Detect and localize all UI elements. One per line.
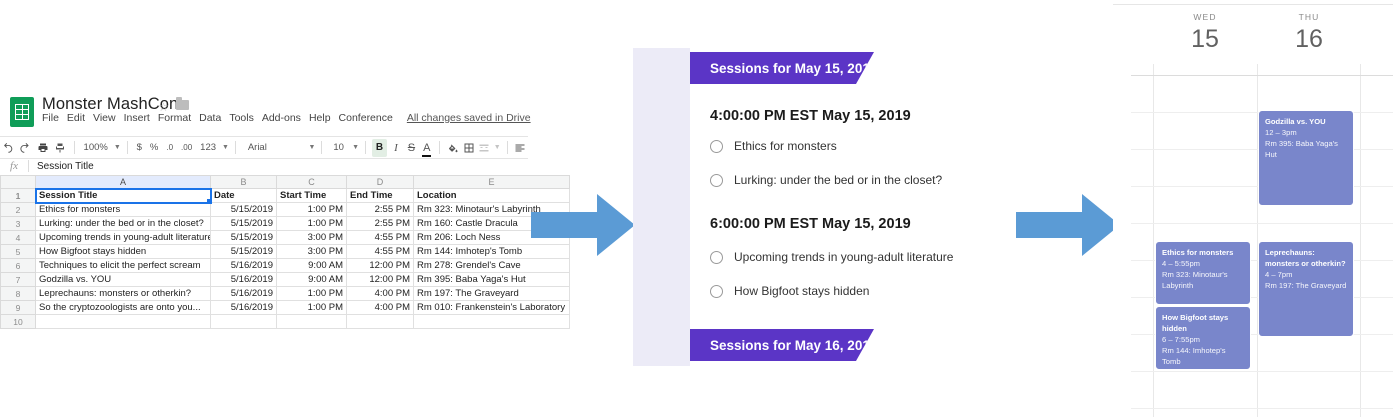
event-title: Leprechauns: monsters or otherkin? bbox=[1265, 247, 1347, 269]
formats-chevron-down-icon[interactable]: ▼ bbox=[222, 139, 229, 157]
time-slot-heading-2: 6:00:00 PM EST May 15, 2019 bbox=[710, 216, 911, 232]
row-header[interactable]: 10 bbox=[1, 315, 36, 329]
calendar-event[interactable]: Leprechauns: monsters or otherkin? 4 – 7… bbox=[1258, 241, 1354, 337]
menu-bar: FileEditViewInsertFormatDataToolsAdd-ons… bbox=[42, 112, 539, 124]
cell-end[interactable]: 4:00 PM bbox=[347, 287, 414, 301]
day-banner-label: Sessions for May 15, 2019 bbox=[710, 61, 877, 76]
radio-button-icon[interactable] bbox=[710, 140, 723, 153]
calendar-column-divider bbox=[1360, 64, 1361, 417]
cell-location[interactable]: Rm 197: The Graveyard bbox=[414, 287, 570, 301]
more-formats-button[interactable]: 123 bbox=[197, 139, 219, 157]
cell-title[interactable] bbox=[36, 315, 211, 329]
cell-title[interactable]: Ethics for monsters bbox=[36, 203, 211, 217]
day-of-week-label: WED bbox=[1153, 12, 1257, 22]
session-option-label: How Bigfoot stays hidden bbox=[734, 284, 869, 298]
row-header[interactable]: 5 bbox=[1, 245, 36, 259]
menu-item-insert[interactable]: Insert bbox=[124, 112, 150, 124]
cell-title[interactable]: Lurking: under the bed or in the closet? bbox=[36, 217, 211, 231]
fill-color-icon[interactable] bbox=[446, 139, 459, 157]
row-header[interactable]: 9 bbox=[1, 301, 36, 315]
cell-start[interactable]: 1:00 PM bbox=[277, 301, 347, 315]
time-slot-heading-1: 4:00:00 PM EST May 15, 2019 bbox=[710, 108, 911, 124]
calendar-day-header-thu[interactable]: THU 16 bbox=[1257, 12, 1361, 52]
menu-item-edit[interactable]: Edit bbox=[67, 112, 85, 124]
cell-date[interactable]: 5/16/2019 bbox=[211, 287, 277, 301]
column-header-row: A B C D E bbox=[1, 176, 570, 189]
table-row[interactable]: 2Ethics for monsters5/15/20191:00 PM2:55… bbox=[1, 203, 570, 217]
fx-label: fx bbox=[0, 160, 28, 172]
row-header[interactable]: 4 bbox=[1, 231, 36, 245]
menu-item-tools[interactable]: Tools bbox=[229, 112, 254, 124]
day-number-label: 15 bbox=[1153, 26, 1257, 52]
cell-end[interactable]: 4:55 PM bbox=[347, 231, 414, 245]
cell-end[interactable]: 2:55 PM bbox=[347, 203, 414, 217]
picker-side-strip bbox=[633, 48, 690, 366]
calendar-event[interactable]: Ethics for monsters 4 – 5:55pm Rm 323: M… bbox=[1155, 241, 1251, 305]
calendar-top-divider bbox=[1113, 4, 1393, 5]
event-location: Rm 197: The Graveyard bbox=[1265, 280, 1347, 291]
cell-title[interactable]: How Bigfoot stays hidden bbox=[36, 245, 211, 259]
event-location: Rm 144: Imhotep's Tomb bbox=[1162, 345, 1244, 367]
cell-date[interactable]: 5/16/2019 bbox=[211, 273, 277, 287]
corner-select-all[interactable] bbox=[1, 176, 36, 189]
calendar-hour-line bbox=[1131, 75, 1393, 76]
merge-chevron-down-icon[interactable]: ▼ bbox=[494, 139, 501, 157]
calendar-hour-line bbox=[1131, 371, 1393, 372]
cell-date[interactable]: 5/16/2019 bbox=[211, 301, 277, 315]
right-arrow-icon bbox=[1016, 194, 1120, 256]
menu-item-view[interactable]: View bbox=[93, 112, 116, 124]
menu-item-data[interactable]: Data bbox=[199, 112, 221, 124]
cell-title[interactable]: Godzilla vs. YOU bbox=[36, 273, 211, 287]
table-row[interactable]: 5How Bigfoot stays hidden5/15/20193:00 P… bbox=[1, 245, 570, 259]
event-time: 4 – 7pm bbox=[1265, 269, 1347, 280]
cell-location[interactable] bbox=[414, 315, 570, 329]
cell-end[interactable]: 12:00 PM bbox=[347, 273, 414, 287]
calendar-hour-line bbox=[1131, 408, 1393, 409]
calendar-event[interactable]: Godzilla vs. YOU 12 – 3pm Rm 395: Baba Y… bbox=[1258, 110, 1354, 206]
zoom-level[interactable]: 100% bbox=[81, 139, 111, 157]
cell-start[interactable]: 1:00 PM bbox=[277, 287, 347, 301]
sheets-title-bar: Monster MashCon ☆ FileEditViewInsertForm… bbox=[0, 92, 528, 137]
column-header-a[interactable]: A bbox=[36, 176, 211, 189]
session-option[interactable]: Upcoming trends in young-adult literatur… bbox=[710, 250, 953, 264]
font-family-select[interactable]: Arial bbox=[242, 139, 306, 157]
calendar-panel: WED 15 THU 16 Godzilla vs. YOU 12 – 3pm … bbox=[1113, 0, 1393, 417]
event-title: Ethics for monsters bbox=[1162, 247, 1244, 258]
currency-button[interactable]: $ bbox=[134, 139, 145, 157]
row-header[interactable]: 8 bbox=[1, 287, 36, 301]
folder-icon[interactable] bbox=[176, 100, 189, 110]
picker-content bbox=[690, 48, 933, 366]
session-option-label: Ethics for monsters bbox=[734, 139, 837, 153]
cell-start[interactable]: 1:00 PM bbox=[277, 203, 347, 217]
table-row[interactable]: 1 Session Title Date Start Time End Time… bbox=[1, 189, 570, 203]
cell-end[interactable]: 2:55 PM bbox=[347, 217, 414, 231]
paint-format-icon[interactable] bbox=[53, 139, 68, 157]
italic-button[interactable]: I bbox=[389, 139, 403, 157]
cell-d1[interactable]: End Time bbox=[347, 189, 414, 203]
undo-icon[interactable] bbox=[1, 139, 16, 157]
cell-date[interactable]: 5/15/2019 bbox=[211, 245, 277, 259]
day-banner-label: Sessions for May 16, 2019 bbox=[710, 338, 877, 353]
cell-title[interactable]: So the cryptozoologists are onto you... bbox=[36, 301, 211, 315]
column-header-e[interactable]: E bbox=[414, 176, 570, 189]
cell-date[interactable] bbox=[211, 315, 277, 329]
event-title: How Bigfoot stays hidden bbox=[1162, 312, 1244, 334]
row-header-1[interactable]: 1 bbox=[1, 189, 36, 203]
cell-end[interactable] bbox=[347, 315, 414, 329]
table-row[interactable]: 9So the cryptozoologists are onto you...… bbox=[1, 301, 570, 315]
cell-a1[interactable]: Session Title bbox=[36, 189, 211, 203]
radio-button-icon[interactable] bbox=[710, 251, 723, 264]
table-row[interactable]: 10 bbox=[1, 315, 570, 329]
cell-location[interactable]: Rm 278: Grendel's Cave bbox=[414, 259, 570, 273]
spreadsheet-grid[interactable]: A B C D E 1 Session Title Date Start Tim… bbox=[0, 175, 528, 329]
cell-date[interactable]: 5/16/2019 bbox=[211, 259, 277, 273]
cell-start[interactable] bbox=[277, 315, 347, 329]
table-row[interactable]: 8Leprechauns: monsters or otherkin?5/16/… bbox=[1, 287, 570, 301]
decrease-decimal-button[interactable]: .0 bbox=[163, 139, 176, 157]
formula-input[interactable]: Session Title bbox=[29, 161, 94, 172]
cell-b1[interactable]: Date bbox=[211, 189, 277, 203]
cell-start[interactable]: 1:00 PM bbox=[277, 217, 347, 231]
strikethrough-button[interactable]: S bbox=[405, 139, 418, 157]
calendar-hour-line bbox=[1131, 223, 1393, 224]
cell-start[interactable]: 9:00 AM bbox=[277, 273, 347, 287]
workflow-diagram: Monster MashCon ☆ FileEditViewInsertForm… bbox=[0, 0, 1393, 417]
event-time: 6 – 7:55pm bbox=[1162, 334, 1244, 345]
cell-location[interactable]: Rm 395: Baba Yaga's Hut bbox=[414, 273, 570, 287]
event-location: Rm 395: Baba Yaga's Hut bbox=[1265, 138, 1347, 160]
day-of-week-label: THU bbox=[1257, 12, 1361, 22]
menu-item-format[interactable]: Format bbox=[158, 112, 191, 124]
event-title: Godzilla vs. YOU bbox=[1265, 116, 1347, 127]
table-row[interactable]: 7Godzilla vs. YOU5/16/20199:00 AM12:00 P… bbox=[1, 273, 570, 287]
event-time: 4 – 5:55pm bbox=[1162, 258, 1244, 269]
calendar-event[interactable]: How Bigfoot stays hidden 6 – 7:55pm Rm 1… bbox=[1155, 306, 1251, 370]
calendar-column-divider bbox=[1153, 64, 1154, 417]
sheets-icon bbox=[10, 97, 34, 127]
radio-button-icon[interactable] bbox=[710, 174, 723, 187]
sheets-toolbar: 100% ▼ $ % .0 .00 123 ▼ Arial ▼ 10 ▼ B I… bbox=[0, 136, 528, 159]
menu-item-help[interactable]: Help bbox=[309, 112, 331, 124]
row-header[interactable]: 3 bbox=[1, 217, 36, 231]
font-size-select[interactable]: 10 bbox=[328, 139, 349, 157]
cell-date[interactable]: 5/15/2019 bbox=[211, 231, 277, 245]
menu-item-addons[interactable]: Add-ons bbox=[262, 112, 301, 124]
session-option-label: Lurking: under the bed or in the closet? bbox=[734, 173, 942, 187]
menu-item-conference[interactable]: Conference bbox=[339, 112, 393, 124]
menu-item-file[interactable]: File bbox=[42, 112, 59, 124]
table-row[interactable]: 4Upcoming trends in young-adult literatu… bbox=[1, 231, 570, 245]
cell-title[interactable]: Leprechauns: monsters or otherkin? bbox=[36, 287, 211, 301]
session-picker-panel: Sessions for May 15, 2019 4:00:00 PM EST… bbox=[633, 48, 933, 366]
align-icon[interactable] bbox=[514, 139, 527, 157]
cell-start[interactable]: 3:00 PM bbox=[277, 245, 347, 259]
cell-date[interactable]: 5/15/2019 bbox=[211, 203, 277, 217]
cell-end[interactable]: 4:55 PM bbox=[347, 245, 414, 259]
google-sheets-panel: Monster MashCon ☆ FileEditViewInsertForm… bbox=[0, 92, 528, 317]
session-option[interactable]: Ethics for monsters bbox=[710, 139, 837, 153]
font-size-chevron-down-icon[interactable]: ▼ bbox=[352, 139, 359, 157]
day-number-label: 16 bbox=[1257, 26, 1361, 52]
session-option[interactable]: How Bigfoot stays hidden bbox=[710, 284, 869, 298]
font-chevron-down-icon[interactable]: ▼ bbox=[308, 139, 315, 157]
table-row[interactable]: 3Lurking: under the bed or in the closet… bbox=[1, 217, 570, 231]
formula-bar: fx Session Title bbox=[0, 157, 528, 176]
print-icon[interactable] bbox=[35, 139, 50, 157]
zoom-chevron-down-icon[interactable]: ▼ bbox=[114, 139, 121, 157]
cell-end[interactable]: 12:00 PM bbox=[347, 259, 414, 273]
radio-button-icon[interactable] bbox=[710, 285, 723, 298]
cell-location[interactable]: Rm 010: Frankenstein's Laboratory bbox=[414, 301, 570, 315]
borders-icon[interactable] bbox=[462, 139, 475, 157]
cell-start[interactable]: 3:00 PM bbox=[277, 231, 347, 245]
increase-decimal-button[interactable]: .00 bbox=[178, 139, 195, 157]
session-option[interactable]: Lurking: under the bed or in the closet? bbox=[710, 173, 942, 187]
cell-title[interactable]: Upcoming trends in young-adult literatur… bbox=[36, 231, 211, 245]
column-header-c[interactable]: C bbox=[277, 176, 347, 189]
column-header-b[interactable]: B bbox=[211, 176, 277, 189]
merge-cells-icon[interactable] bbox=[477, 139, 490, 157]
text-color-button[interactable]: A bbox=[420, 139, 433, 157]
event-location: Rm 323: Minotaur's Labyrinth bbox=[1162, 269, 1244, 291]
cell-date[interactable]: 5/15/2019 bbox=[211, 217, 277, 231]
column-header-d[interactable]: D bbox=[347, 176, 414, 189]
calendar-day-header-wed[interactable]: WED 15 bbox=[1153, 12, 1257, 52]
redo-icon[interactable] bbox=[18, 139, 33, 157]
cell-start[interactable]: 9:00 AM bbox=[277, 259, 347, 273]
event-time: 12 – 3pm bbox=[1265, 127, 1347, 138]
row-header[interactable]: 7 bbox=[1, 273, 36, 287]
row-header[interactable]: 6 bbox=[1, 259, 36, 273]
row-header[interactable]: 2 bbox=[1, 203, 36, 217]
cell-c1[interactable]: Start Time bbox=[277, 189, 347, 203]
save-status[interactable]: All changes saved in Drive bbox=[407, 112, 531, 124]
cell-title[interactable]: Techniques to elicit the perfect scream bbox=[36, 259, 211, 273]
session-option-label: Upcoming trends in young-adult literatur… bbox=[734, 250, 953, 264]
cell-end[interactable]: 4:00 PM bbox=[347, 301, 414, 315]
table-row[interactable]: 6Techniques to elicit the perfect scream… bbox=[1, 259, 570, 273]
right-arrow-icon bbox=[531, 194, 635, 256]
percent-button[interactable]: % bbox=[147, 139, 161, 157]
bold-button[interactable]: B bbox=[372, 139, 387, 157]
